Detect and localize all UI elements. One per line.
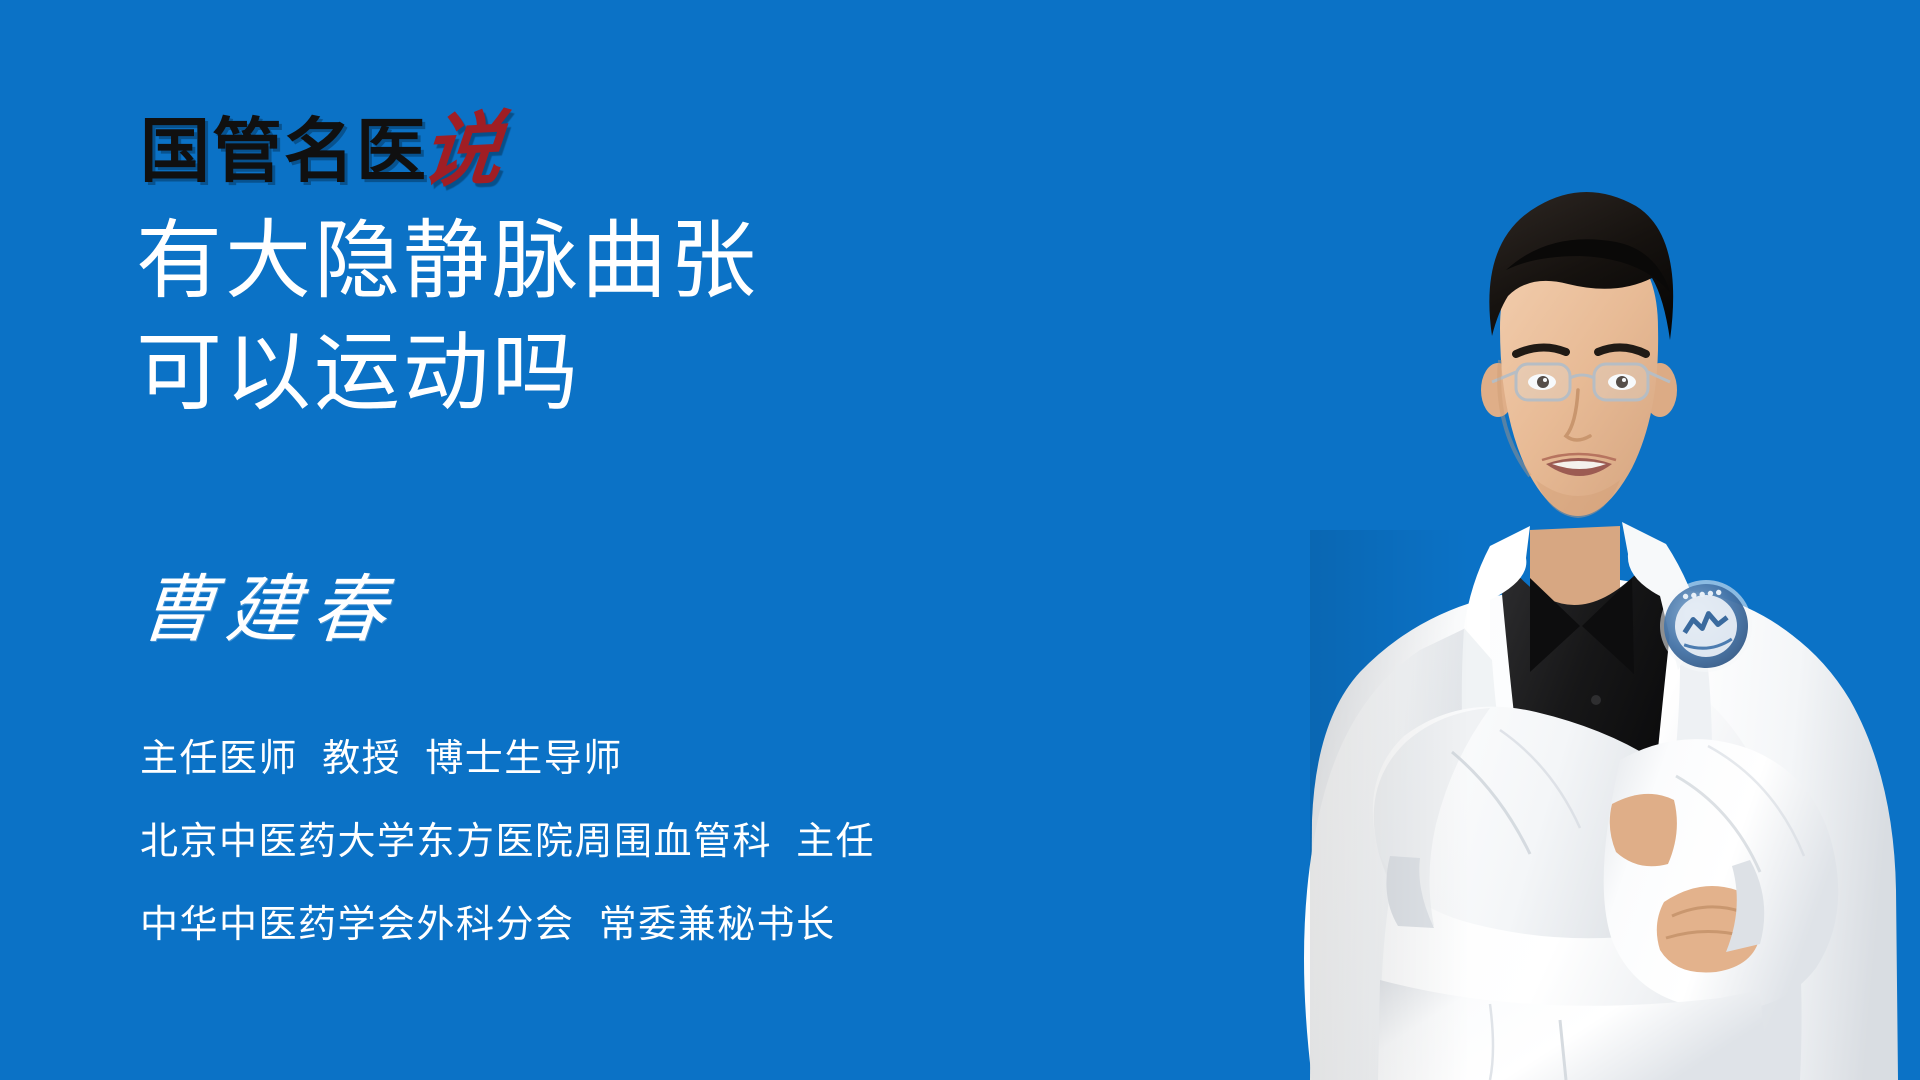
program-logo-accent-text: 说 [419, 112, 506, 188]
doctor-name: 曹建春 [137, 570, 402, 650]
credential-line: 主任医师 教授 博士生导师 [140, 718, 1070, 801]
credential-line: 中华中医药学会外科分会 常委兼秘书长 [140, 884, 1070, 967]
doctor-portrait: ● ● ● ● ● [960, 0, 1920, 1080]
headline-line-2: 可以运动吗 [136, 317, 1036, 429]
text-column: 国管名医 说 有大隐静脉曲张 可以运动吗 曹建春 主任医师 教授 博士生导师 北… [0, 0, 1100, 1080]
program-logo: 国管名医 说 [140, 100, 502, 186]
credential-line: 北京中医药大学东方医院周围血管科 主任 [140, 801, 1070, 884]
doctor-head [1481, 192, 1677, 518]
program-logo-main-text: 国管名医 [140, 116, 428, 186]
poster-canvas: 国管名医 说 有大隐静脉曲张 可以运动吗 曹建春 主任医师 教授 博士生导师 北… [0, 0, 1920, 1080]
doctor-portrait-illustration: ● ● ● ● ● [1060, 60, 1920, 1080]
doctor-credentials: 主任医师 教授 博士生导师 北京中医药大学东方医院周围血管科 主任 中华中医药学… [140, 718, 1070, 967]
headline: 有大隐静脉曲张 可以运动吗 [136, 205, 1036, 429]
headline-line-1: 有大隐静脉曲张 [136, 205, 1036, 317]
